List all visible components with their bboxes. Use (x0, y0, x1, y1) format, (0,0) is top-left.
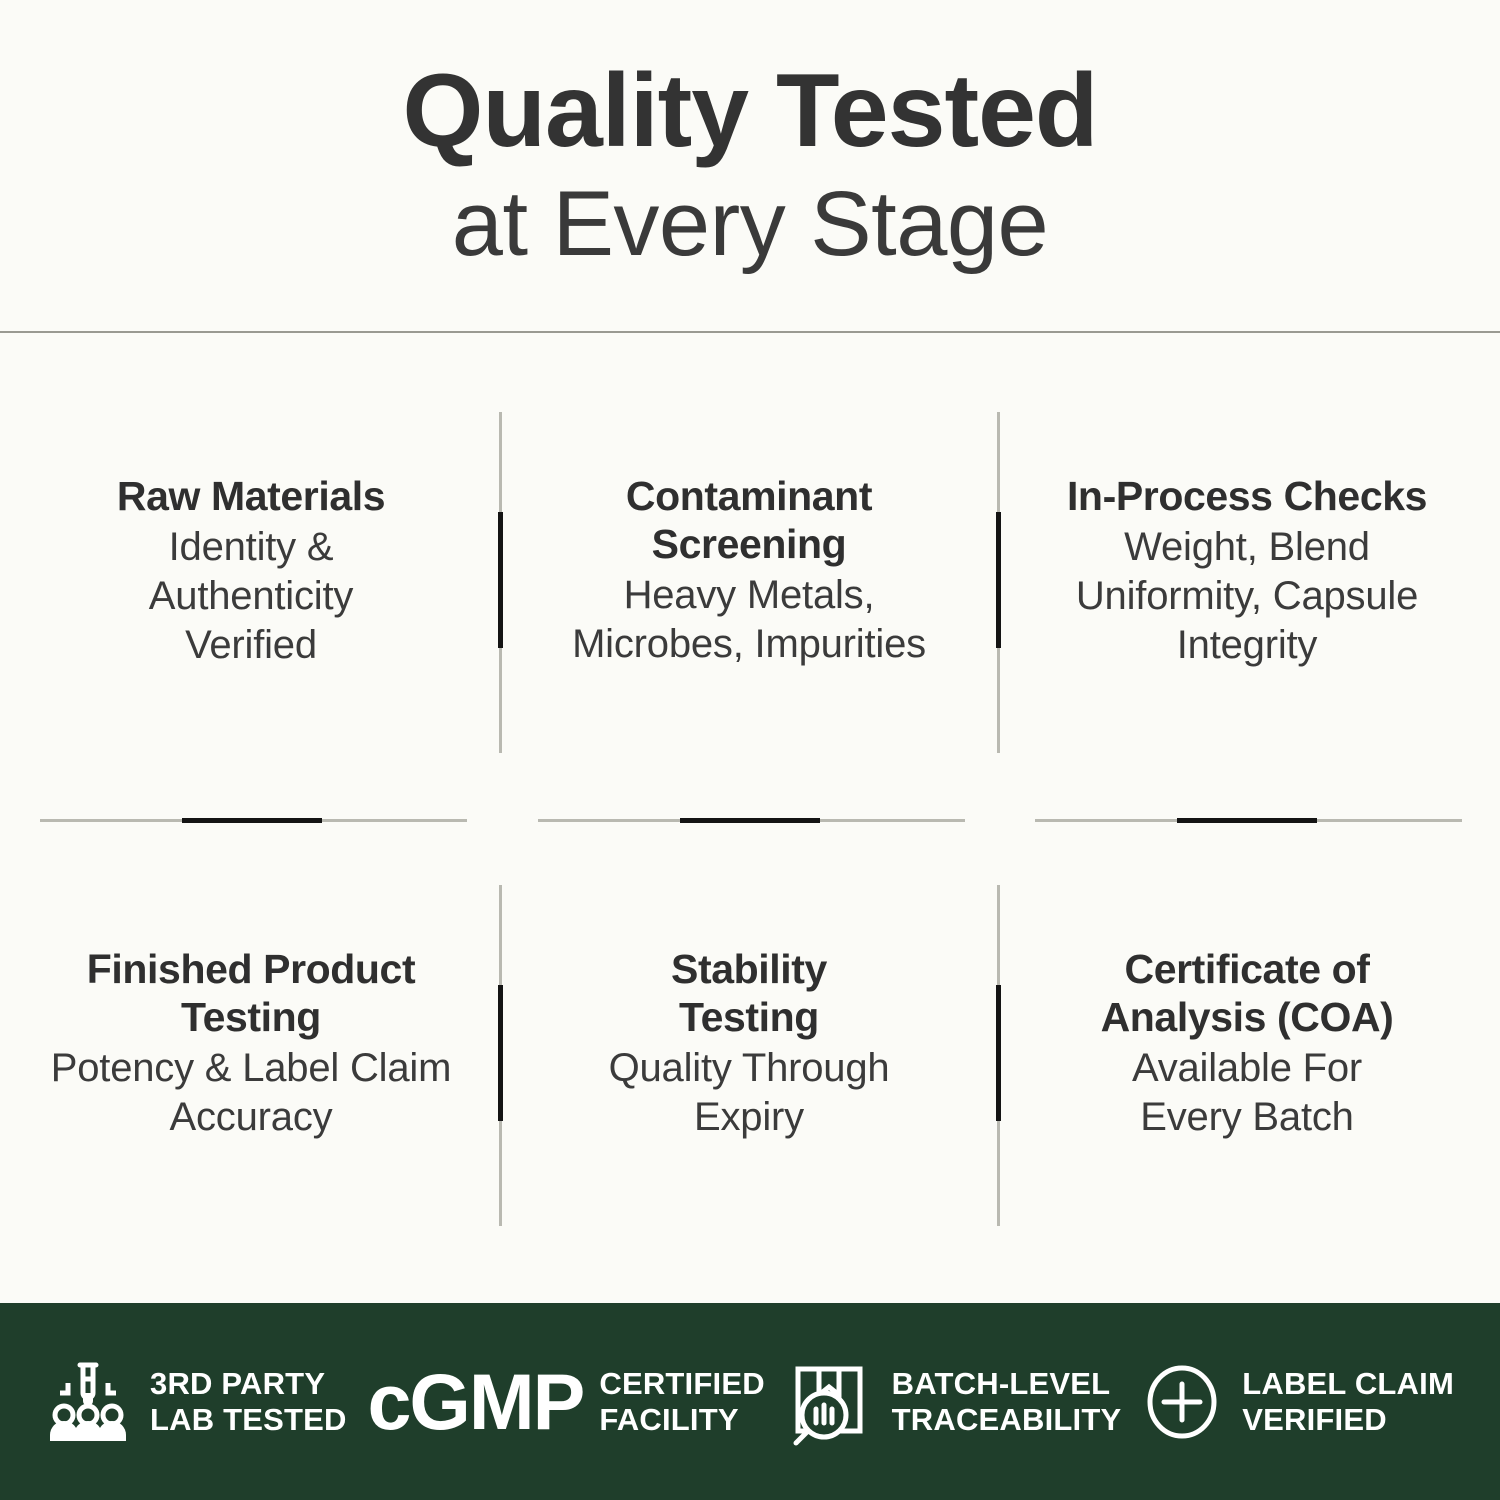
stage-description: Heavy Metals, Microbes, Impurities (572, 571, 926, 669)
stage-card-finished-product-testing: Finished Product Testing Potency & Label… (18, 946, 484, 1142)
vertical-divider (499, 412, 502, 753)
infographic-page: Quality Tested at Every Stage Raw Materi… (0, 0, 1500, 1500)
divider-accent (498, 512, 503, 648)
stage-description: Available For Every Batch (1132, 1044, 1362, 1142)
stage-title: Stability Testing (671, 946, 827, 1042)
page-title-line2: at Every Stage (452, 173, 1048, 276)
vertical-divider (997, 412, 1000, 753)
horizontal-divider (1035, 819, 1462, 822)
stage-card-raw-materials: Raw Materials Identity & Authenticity Ve… (18, 473, 484, 669)
page-title-line1: Quality Tested (403, 55, 1098, 167)
stage-description: Potency & Label Claim Accuracy (51, 1044, 451, 1142)
stage-title: Certificate of Analysis (COA) (1101, 946, 1394, 1042)
stage-title: Contaminant Screening (626, 473, 872, 569)
divider-accent (1177, 818, 1317, 823)
stage-card-in-process-checks: In-Process Checks Weight, Blend Uniformi… (1014, 473, 1480, 669)
badge-label: BATCH-LEVEL TRACEABILITY (892, 1366, 1122, 1436)
badge-label-claim-verified: LABEL CLAIM VERIFIED (1142, 1360, 1454, 1444)
box-magnifier-icon (786, 1357, 872, 1447)
circle-plus-icon (1142, 1360, 1222, 1444)
stage-card-stability-testing: Stability Testing Quality Through Expiry (516, 946, 982, 1142)
divider-accent (182, 818, 322, 823)
test-tube-people-icon (46, 1359, 130, 1445)
stage-title: Raw Materials (117, 473, 385, 521)
divider-accent (498, 985, 503, 1121)
badge-cgmp-certified-facility: cGMP CERTIFIED FACILITY (367, 1362, 764, 1441)
stage-card-certificate-of-analysis: Certificate of Analysis (COA) Available … (1014, 946, 1480, 1142)
divider-accent (680, 818, 820, 823)
vertical-divider (499, 885, 502, 1226)
divider-accent (996, 512, 1001, 648)
header: Quality Tested at Every Stage (0, 0, 1500, 333)
horizontal-divider (40, 819, 467, 822)
vertical-divider (997, 885, 1000, 1226)
stage-title: In-Process Checks (1067, 473, 1427, 521)
cgmp-wordmark: cGMP (367, 1362, 583, 1441)
badge-3rd-party-lab-tested: 3RD PARTY LAB TESTED (46, 1359, 347, 1445)
horizontal-divider (538, 819, 965, 822)
badge-label: LABEL CLAIM VERIFIED (1242, 1366, 1454, 1436)
stage-title: Finished Product Testing (87, 946, 415, 1042)
stage-description: Weight, Blend Uniformity, Capsule Integr… (1076, 523, 1418, 669)
badge-label: 3RD PARTY LAB TESTED (150, 1366, 347, 1436)
stage-card-contaminant-screening: Contaminant Screening Heavy Metals, Micr… (516, 473, 982, 669)
stage-description: Quality Through Expiry (609, 1044, 890, 1142)
trust-badge-banner: 3RD PARTY LAB TESTED cGMP CERTIFIED FACI… (0, 1303, 1500, 1500)
divider-accent (996, 985, 1001, 1121)
stage-description: Identity & Authenticity Verified (149, 523, 353, 669)
badge-label: CERTIFIED FACILITY (599, 1366, 764, 1436)
badge-batch-level-traceability: BATCH-LEVEL TRACEABILITY (786, 1357, 1122, 1447)
